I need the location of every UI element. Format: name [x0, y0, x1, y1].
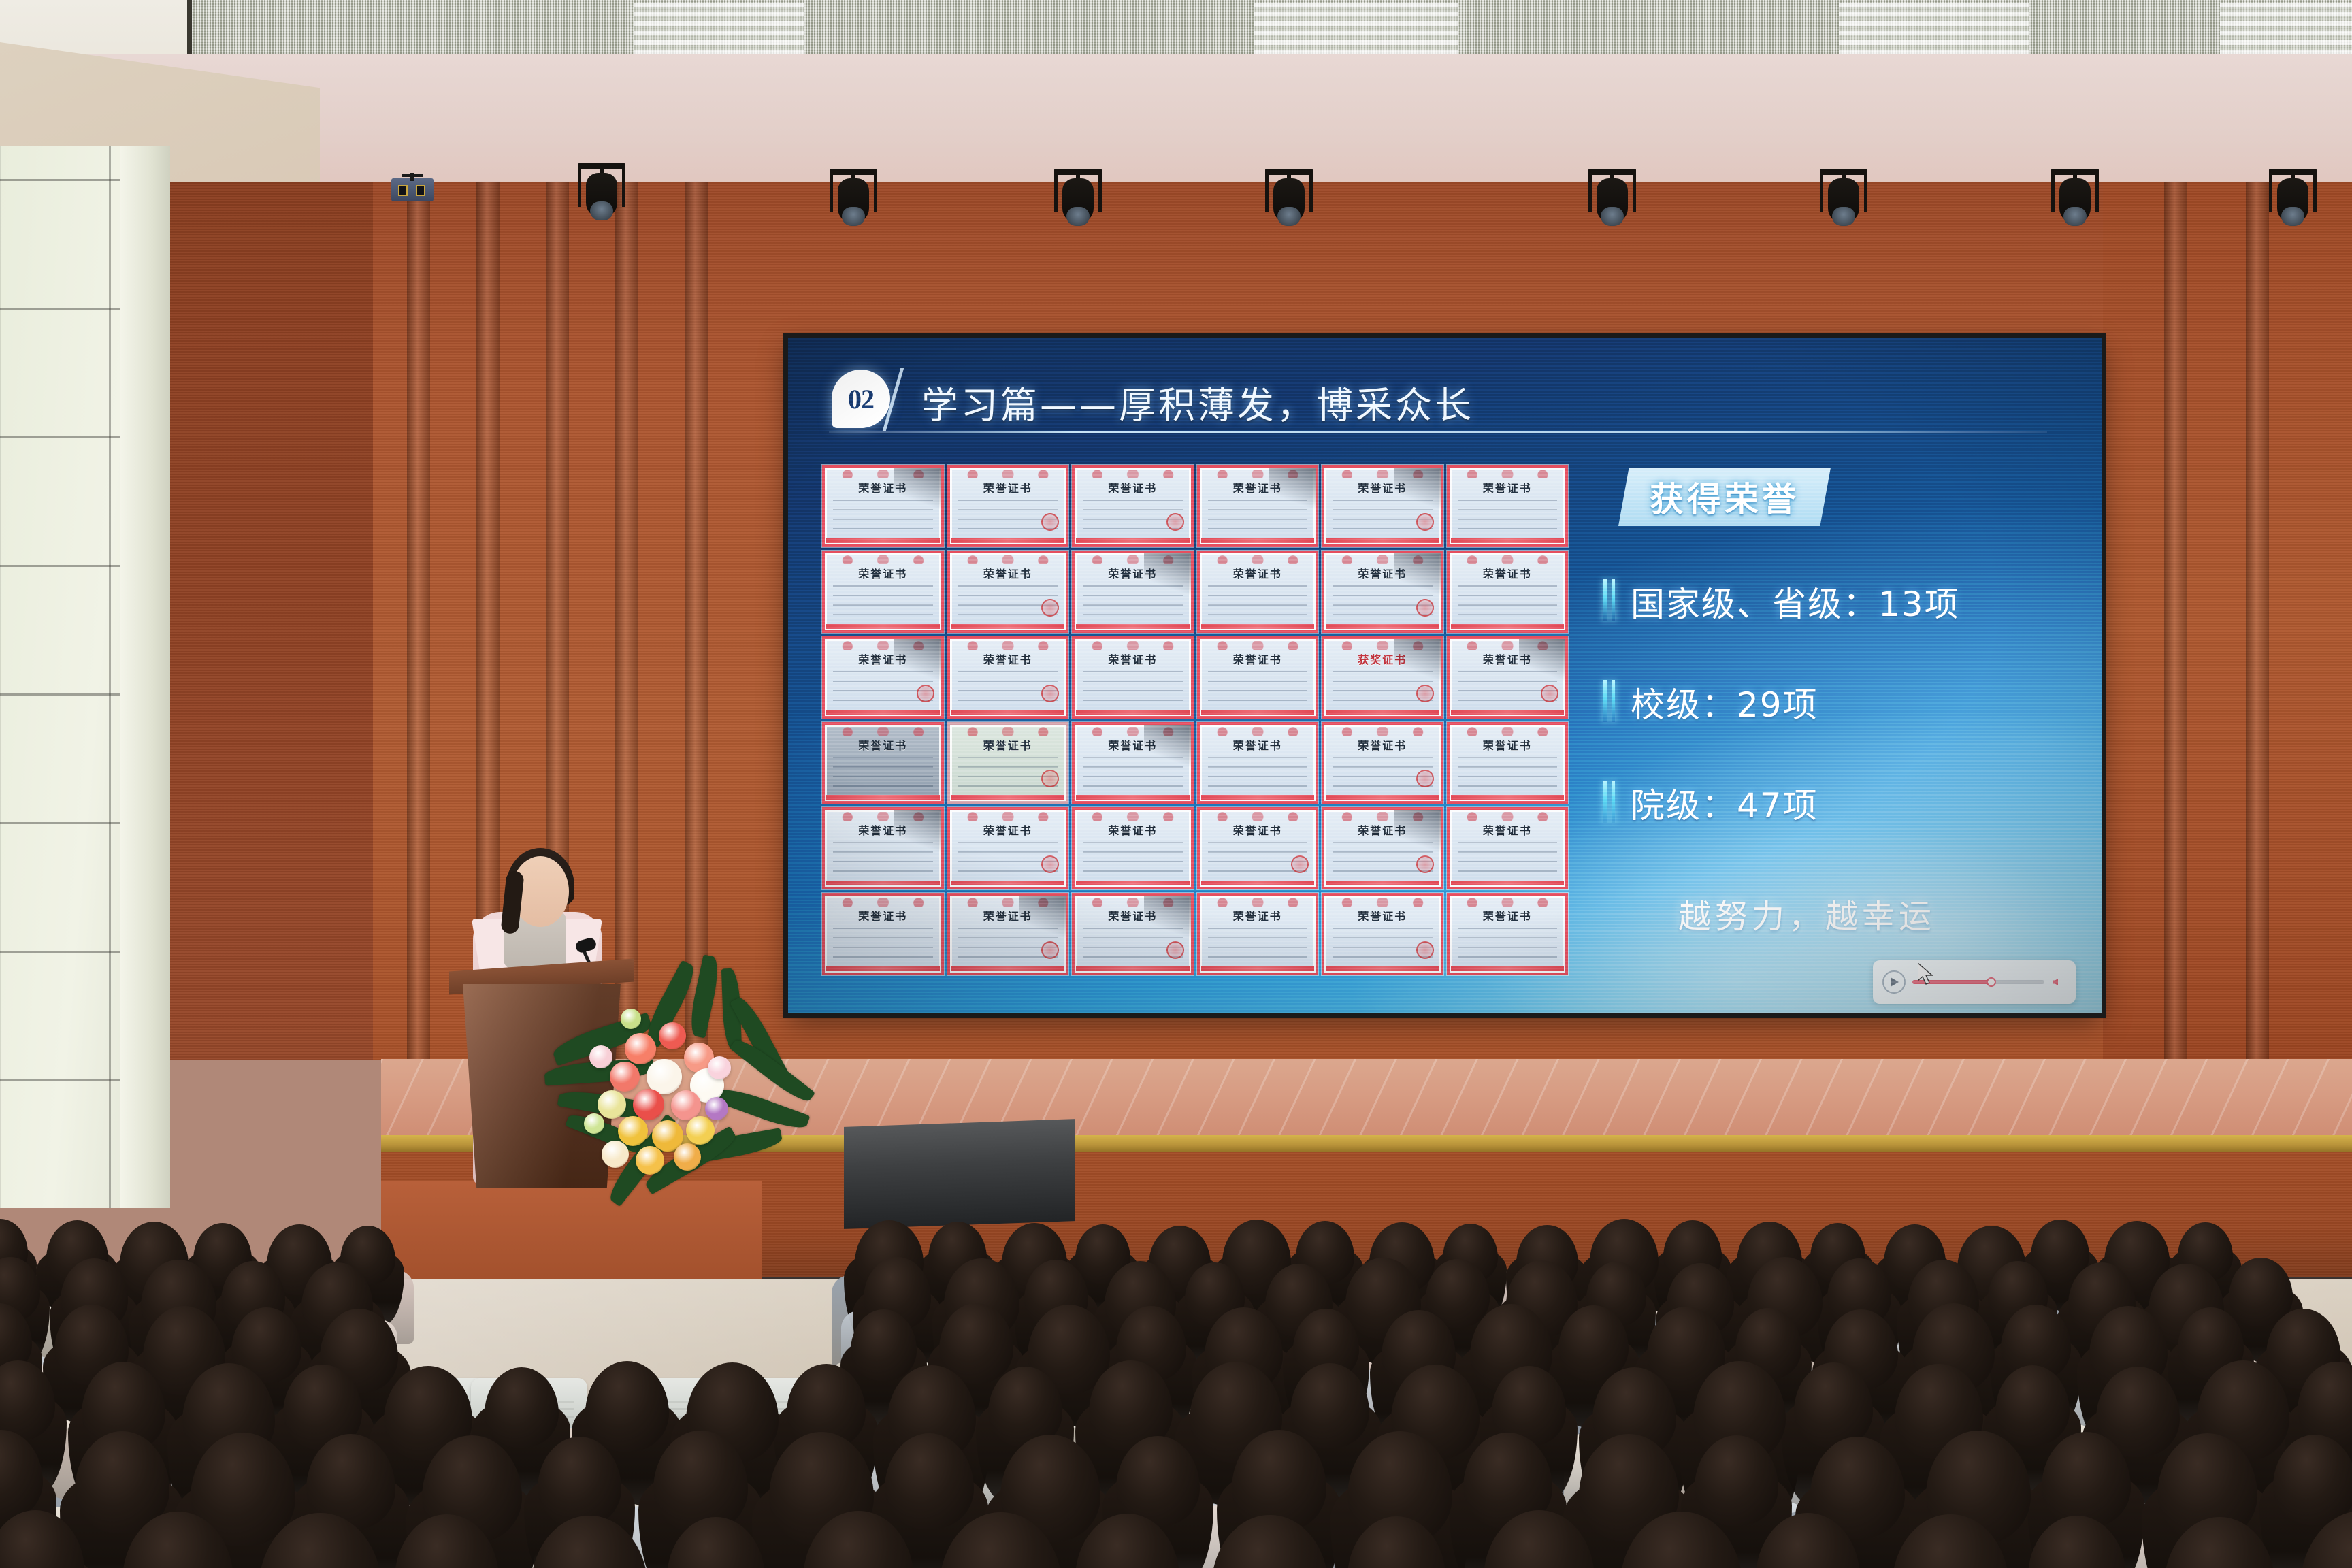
stat-label-college: 院级：47项 [1631, 779, 1818, 828]
auditorium-scene: 02 学习篇——厚积薄发，博采众长 荣誉证书荣誉证书荣誉证书荣誉证书荣誉证书荣誉… [0, 0, 2352, 1568]
certificate-seal [1416, 685, 1434, 702]
accent-bars-icon [1603, 680, 1618, 722]
media-progress-knob[interactable] [1987, 977, 1996, 987]
certificate-thumbnail: 荣誉证书 [1072, 636, 1194, 719]
certificate-thumbnail: 荣誉证书 [947, 807, 1069, 889]
certificate-grid: 荣誉证书荣誉证书荣誉证书荣誉证书荣誉证书荣誉证书荣誉证书荣誉证书荣誉证书荣誉证书… [822, 465, 1568, 975]
certificate-title: 荣誉证书 [1450, 736, 1566, 753]
certificate-thumbnail: 获奖证书 [1322, 636, 1443, 719]
certificate-seal [1041, 685, 1059, 702]
honor-badge-label: 获得荣誉 [1650, 472, 1799, 521]
certificate-thumbnail: 荣誉证书 [1447, 551, 1569, 633]
spotlight-fixture [1262, 169, 1316, 230]
certificate-title: 荣誉证书 [950, 736, 1066, 753]
certificate-text-lines [1333, 926, 1433, 962]
certificate-thumbnail: 荣誉证书 [1072, 551, 1194, 633]
media-control-bar[interactable] [1873, 960, 2076, 1004]
certificate-shadow [894, 810, 941, 854]
certificate-thumbnail: 荣誉证书 [1072, 807, 1194, 889]
spotlight-fixture [575, 163, 628, 225]
certificate-seal [1041, 599, 1059, 617]
certificate-text-lines [1458, 497, 1558, 534]
certificate-text-lines [958, 583, 1058, 619]
certificate-thumbnail: 荣誉证书 [1322, 722, 1443, 804]
certificate-seal [1166, 513, 1184, 531]
certificate-thumbnail: 荣誉证书 [947, 636, 1069, 719]
certificate-thumbnail: 荣誉证书 [1072, 722, 1194, 804]
certificate-thumbnail: 荣誉证书 [1322, 551, 1443, 633]
certificate-shadow [1019, 896, 1066, 940]
certificate-thumbnail: 荣誉证书 [822, 722, 944, 804]
certificate-thumbnail: 荣誉证书 [1197, 636, 1319, 719]
honor-badge: 获得荣誉 [1618, 468, 1831, 526]
certificate-shadow [894, 468, 941, 512]
certificate-title: 荣誉证书 [825, 907, 941, 924]
certificate-shadow [1394, 639, 1440, 683]
certificate-title: 荣誉证书 [1450, 565, 1566, 581]
certificate-thumbnail: 荣誉证书 [1447, 893, 1569, 975]
certificate-shadow [894, 639, 941, 683]
certificate-seal [1166, 941, 1184, 959]
certificate-text-lines [1458, 840, 1558, 876]
spotlight-fixture [827, 169, 880, 230]
spotlight-fixture [1051, 169, 1105, 230]
certificate-thumbnail: 荣誉证书 [1197, 893, 1319, 975]
certificate-shadow [1519, 639, 1565, 683]
certificate-title: 荣誉证书 [1324, 907, 1441, 924]
certificate-thumbnail: 荣誉证书 [822, 636, 944, 719]
certificate-seal [1416, 770, 1434, 787]
stat-row-national: 国家级、省级：13项 [1598, 576, 2074, 627]
certificate-text-lines [1208, 755, 1308, 791]
spotlight-fixture [1817, 169, 1870, 230]
certificate-text-lines [1208, 926, 1308, 962]
certificate-seal [917, 685, 934, 702]
play-icon[interactable] [1882, 970, 1906, 994]
stat-label-national: 国家级、省级：13项 [1631, 577, 1960, 626]
certificate-thumbnail: 荣誉证书 [1447, 722, 1569, 804]
certificate-text-lines [833, 583, 933, 619]
certificate-thumbnail: 荣誉证书 [1197, 807, 1319, 889]
certificate-text-lines [1458, 755, 1558, 791]
certificate-thumbnail: 荣誉证书 [1322, 807, 1443, 889]
slide-title: 学习篇——厚积薄发，博采众长 [921, 375, 1474, 429]
certificate-thumbnail: 荣誉证书 [1197, 551, 1319, 633]
spotlight-fixture [2266, 169, 2319, 230]
certificate-text-lines [958, 497, 1058, 534]
certificate-title: 荣誉证书 [1200, 736, 1316, 753]
certificate-thumbnail: 荣誉证书 [822, 465, 944, 547]
certificate-shadow [1394, 810, 1440, 854]
accent-bars-icon [1603, 781, 1618, 823]
spotlight-fixture [1586, 169, 1639, 230]
certificate-title: 荣誉证书 [1075, 651, 1191, 667]
certificate-text-lines [833, 926, 933, 962]
slide-tagline: 越努力，越幸运 [1678, 889, 1935, 937]
certificate-seal [1041, 941, 1059, 959]
wall-pillar [2246, 182, 2269, 1060]
certificate-thumbnail: 荣誉证书 [947, 722, 1069, 804]
certificate-title: 荣誉证书 [1200, 565, 1316, 581]
certificate-thumbnail: 荣誉证书 [822, 893, 944, 975]
certificate-seal [1416, 599, 1434, 617]
back-wall-wood-right [2103, 182, 2352, 1060]
certificate-title: 荣誉证书 [1075, 479, 1191, 495]
certificate-text-lines [1083, 840, 1183, 876]
certificate-thumbnail: 荣誉证书 [1447, 636, 1569, 719]
section-number: 02 [848, 383, 874, 415]
volume-icon[interactable] [2051, 975, 2066, 990]
certificate-thumbnail: 荣誉证书 [1447, 807, 1569, 889]
audience-seating [0, 1007, 2352, 1568]
certificate-shadow [1394, 553, 1440, 598]
certificate-shadow [1144, 553, 1190, 598]
certificate-title: 荣誉证书 [950, 565, 1066, 581]
certificate-thumbnail: 荣誉证书 [1197, 722, 1319, 804]
certificate-text-lines [1458, 926, 1558, 962]
certificate-thumbnail: 荣誉证书 [1072, 893, 1194, 975]
certificate-title: 荣誉证书 [1450, 821, 1566, 838]
ceiling-projector-fixture [391, 173, 434, 201]
certificate-title: 荣誉证书 [950, 479, 1066, 495]
stat-label-school: 校级：29项 [1631, 678, 1818, 727]
honor-panel: 获得荣誉 国家级、省级：13项 校级：29项 院级：47项 越努力，越幸运 [1598, 468, 2074, 985]
certificate-title: 荣誉证书 [1200, 651, 1316, 667]
certificate-thumbnail: 荣誉证书 [1197, 465, 1319, 547]
certificate-thumbnail: 荣誉证书 [1322, 465, 1443, 547]
certificate-text-lines [1083, 497, 1183, 534]
certificate-seal [1416, 513, 1434, 531]
certificate-title: 荣誉证书 [825, 565, 941, 581]
certificate-text-lines [958, 669, 1058, 705]
certificate-shadow [1269, 468, 1316, 512]
certificate-title: 荣誉证书 [1450, 907, 1566, 924]
certificate-seal [1041, 513, 1059, 531]
certificate-thumbnail: 荣誉证书 [1072, 465, 1194, 547]
certificate-seal [1291, 855, 1309, 873]
stat-row-school: 校级：29项 [1598, 677, 2074, 728]
certificate-thumbnail: 荣誉证书 [1322, 893, 1443, 975]
stat-row-college: 院级：47项 [1598, 778, 2074, 828]
certificate-title: 荣誉证书 [1324, 736, 1441, 753]
accent-bars-icon [1603, 579, 1618, 621]
certificate-thumbnail: 荣誉证书 [947, 465, 1069, 547]
certificate-seal [1041, 855, 1059, 873]
certificate-text-lines [1458, 583, 1558, 619]
certificate-title: 荣誉证书 [1450, 479, 1566, 495]
certificate-shadow [1144, 725, 1190, 769]
certificate-thumbnail: 荣誉证书 [947, 893, 1069, 975]
certificate-thumbnail: 荣誉证书 [822, 551, 944, 633]
certificate-text-lines [833, 755, 933, 791]
led-presentation-screen[interactable]: 02 学习篇——厚积薄发，博采众长 荣誉证书荣誉证书荣誉证书荣誉证书荣誉证书荣誉… [788, 338, 2102, 1013]
certificate-text-lines [1083, 669, 1183, 705]
certificate-text-lines [1333, 755, 1433, 791]
header-divider-rule [829, 431, 2047, 433]
certificate-thumbnail: 荣誉证书 [947, 551, 1069, 633]
wall-pillar [2164, 182, 2187, 1060]
certificate-seal [1416, 855, 1434, 873]
back-wall-wood-left [155, 182, 373, 1060]
section-number-badge: 02 [832, 370, 890, 428]
certificate-seal [1541, 685, 1558, 702]
slide-header: 02 学习篇——厚积薄发，博采众长 [788, 359, 2102, 440]
certificate-seal [1416, 941, 1434, 959]
certificate-thumbnail: 荣誉证书 [822, 807, 944, 889]
certificate-title: 荣誉证书 [1200, 907, 1316, 924]
certificate-title: 荣誉证书 [825, 736, 941, 753]
certificate-title: 荣誉证书 [1075, 821, 1191, 838]
certificate-title: 荣誉证书 [1200, 821, 1316, 838]
certificate-thumbnail: 荣誉证书 [1447, 465, 1569, 547]
certificate-text-lines [1208, 583, 1308, 619]
certificate-shadow [1144, 896, 1190, 940]
certificate-text-lines [1208, 669, 1308, 705]
certificate-title: 荣誉证书 [950, 821, 1066, 838]
certificate-shadow [1394, 468, 1440, 512]
certificate-title: 荣誉证书 [950, 651, 1066, 667]
spotlight-fixture [2048, 169, 2102, 230]
